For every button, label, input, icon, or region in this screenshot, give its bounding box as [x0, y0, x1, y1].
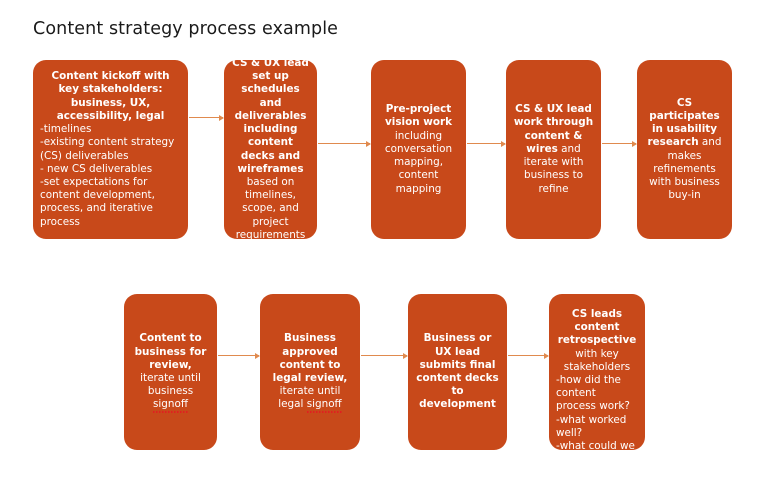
- process-node-3[interactable]: Pre-project vision work including conver…: [371, 60, 466, 239]
- process-node-9-text: CS leads content retrospectivewith key s…: [556, 308, 638, 450]
- connector-4-5: [602, 143, 636, 144]
- spellcheck-word: signoff: [153, 398, 188, 411]
- diagram-canvas: Content strategy process example Content…: [0, 0, 769, 482]
- arrowhead-icon: [403, 353, 408, 359]
- connector-2-3: [318, 143, 370, 144]
- connector-1-2: [189, 117, 223, 118]
- arrowhead-icon: [255, 353, 260, 359]
- process-node-3-text: Pre-project vision work including conver…: [378, 103, 459, 195]
- process-node-7-heading: Business approved content to legal revie…: [273, 332, 348, 384]
- process-node-3-body: including conversation mapping, content …: [385, 130, 452, 195]
- process-node-3-heading: Pre-project vision work: [385, 103, 452, 128]
- process-node-2-text: CS & UX lead set up schedules and delive…: [231, 60, 310, 239]
- connector-8-9: [508, 355, 548, 356]
- process-node-9-body: with key stakeholders: [556, 348, 638, 374]
- process-node-6-heading: Content to business for review,: [135, 332, 207, 370]
- arrowhead-icon: [219, 115, 224, 121]
- process-node-9[interactable]: CS leads content retrospectivewith key s…: [549, 294, 645, 450]
- process-node-6-body: iterate until business signoff: [140, 372, 201, 410]
- process-node-7[interactable]: Business approved content to legal revie…: [260, 294, 360, 450]
- process-node-1-heading: Content kickoff with key stakeholders: b…: [40, 70, 181, 123]
- connector-6-7: [218, 355, 259, 356]
- process-node-7-text: Business approved content to legal revie…: [267, 332, 353, 411]
- connector-7-8: [361, 355, 407, 356]
- process-node-2[interactable]: CS & UX lead set up schedules and delive…: [224, 60, 317, 239]
- process-node-1-text: Content kickoff with key stakeholders: b…: [40, 70, 181, 228]
- process-node-6[interactable]: Content to business for review, iterate …: [124, 294, 217, 450]
- arrowhead-icon: [632, 141, 637, 147]
- process-node-8-text: Business or UX lead submits final conten…: [415, 332, 500, 411]
- process-node-6-text: Content to business for review, iterate …: [131, 332, 210, 411]
- process-node-5-text: CS participates in usability research an…: [644, 97, 725, 203]
- process-node-2-heading: CS & UX lead set up schedules and delive…: [232, 60, 309, 175]
- page-title: Content strategy process example: [33, 19, 338, 39]
- process-node-2-body: based on timelines, scope, and project r…: [236, 176, 306, 239]
- process-node-9-heading: CS leads content retrospective: [556, 308, 638, 348]
- process-node-1[interactable]: Content kickoff with key stakeholders: b…: [33, 60, 188, 239]
- process-node-1-body: -timelines -existing content strategy (C…: [40, 123, 181, 229]
- process-node-4-heading: CS & UX lead work through content & wire…: [514, 103, 593, 155]
- spellcheck-word: signoff: [307, 398, 342, 411]
- process-node-5[interactable]: CS participates in usability research an…: [637, 60, 732, 239]
- arrowhead-icon: [366, 141, 371, 147]
- process-node-4-text: CS & UX lead work through content & wire…: [513, 103, 594, 195]
- process-node-7-body: iterate until legal signoff: [278, 385, 341, 410]
- process-node-8-heading: Business or UX lead submits final conten…: [416, 332, 498, 410]
- process-node-4[interactable]: CS & UX lead work through content & wire…: [506, 60, 601, 239]
- arrowhead-icon: [544, 353, 549, 359]
- arrowhead-icon: [501, 141, 506, 147]
- process-node-9-body2: -how did the content process work? -what…: [556, 374, 638, 450]
- connector-3-4: [467, 143, 505, 144]
- process-node-8[interactable]: Business or UX lead submits final conten…: [408, 294, 507, 450]
